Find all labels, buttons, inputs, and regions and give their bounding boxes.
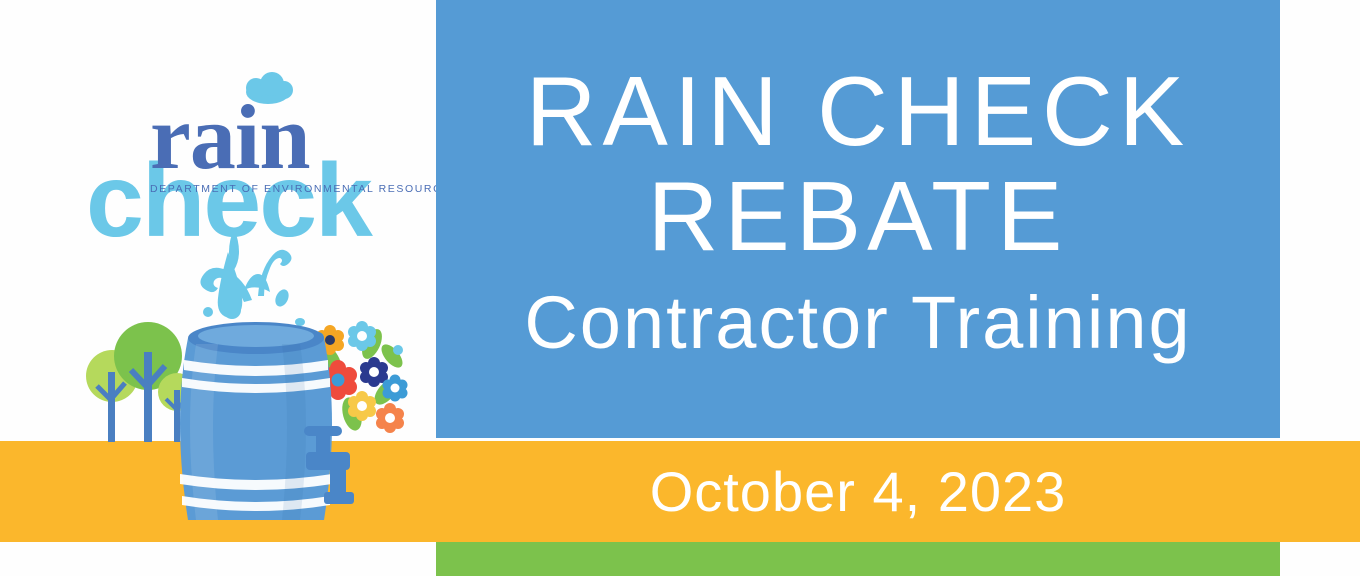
headline-line-2: REBATE [648, 171, 1069, 262]
headline-line-1: RAIN CHECK [526, 66, 1190, 157]
event-date: October 4, 2023 [436, 441, 1280, 542]
water-splash-icon [200, 250, 305, 326]
rain-check-logo-illustration: check rain DEPARTMENT OF ENVIRONMENTAL R… [0, 0, 436, 576]
rain-check-rebate-banner: check rain DEPARTMENT OF ENVIRONMENTAL R… [0, 0, 1360, 576]
green-accent-strip [436, 542, 1280, 576]
subheadline: Contractor Training [524, 286, 1191, 360]
logo-tagline: DEPARTMENT OF ENVIRONMENTAL RESOURCES [150, 183, 436, 195]
rain-barrel-icon [180, 322, 332, 520]
logo-word-rain: rain [150, 86, 310, 188]
headline-block: RAIN CHECK REBATE Contractor Training [436, 0, 1280, 438]
